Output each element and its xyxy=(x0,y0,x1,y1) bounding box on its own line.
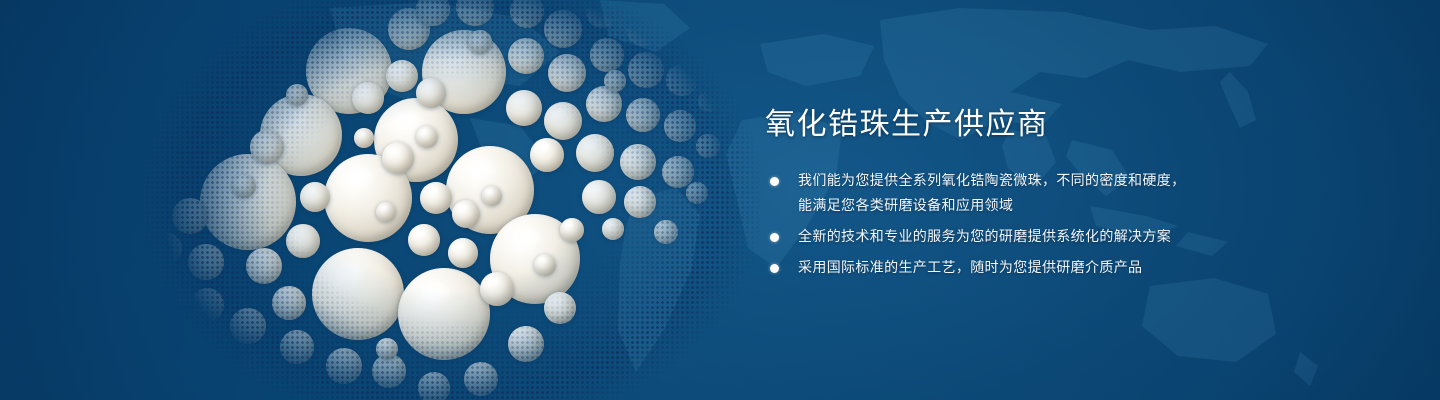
bead-small xyxy=(482,186,502,206)
bead-large xyxy=(306,28,392,114)
bead-medium xyxy=(188,244,224,280)
bead-medium xyxy=(626,12,660,46)
list-item: 采用国际标准的生产工艺，随时为您提供研磨介质产品 xyxy=(765,255,1285,280)
bead-medium xyxy=(286,224,320,258)
bead-large xyxy=(200,154,296,250)
hero-banner: 氧化锆珠生产供应商 我们能为您提供全系列氧化锆陶瓷微珠，不同的密度和硬度， 能满… xyxy=(0,0,1440,400)
bead-medium xyxy=(416,0,450,26)
bead-medium xyxy=(530,138,564,172)
bead-medium xyxy=(230,308,266,344)
bead-small xyxy=(286,84,308,106)
bead-medium xyxy=(664,110,696,142)
list-item-line: 我们能为您提供全系列氧化锆陶瓷微珠，不同的密度和硬度， xyxy=(798,168,1285,193)
list-item-line: 采用国际标准的生产工艺，随时为您提供研磨介质产品 xyxy=(798,255,1285,280)
bead-medium xyxy=(480,272,514,306)
zirconia-beads-photo xyxy=(130,0,750,400)
bead-medium xyxy=(148,232,182,266)
bead-medium xyxy=(416,78,446,108)
bead-medium xyxy=(280,330,314,364)
bead-small xyxy=(686,182,708,204)
bead-medium xyxy=(386,60,418,92)
bead-large xyxy=(374,98,458,182)
bullet-dot-icon xyxy=(770,233,779,242)
bead-medium xyxy=(326,348,362,384)
bead-small xyxy=(696,134,720,158)
bead-medium xyxy=(452,200,480,228)
bead-medium xyxy=(456,0,494,26)
bead-small xyxy=(696,40,720,64)
bead-small xyxy=(604,70,626,92)
bead-medium xyxy=(586,0,618,28)
bead-small xyxy=(602,218,624,240)
list-item: 全新的技术和专业的服务为您的研磨提供系统化的解决方案 xyxy=(765,224,1285,249)
bead-medium xyxy=(662,156,694,188)
feature-list: 我们能为您提供全系列氧化锆陶瓷微珠，不同的密度和硬度， 能满足您各类研磨设备和应… xyxy=(765,168,1285,280)
bead-small xyxy=(698,90,720,112)
bead-large xyxy=(312,248,404,340)
bead-medium xyxy=(624,186,656,218)
bead-medium xyxy=(272,286,306,320)
bead-medium xyxy=(508,326,544,362)
bead-medium xyxy=(420,182,452,214)
bead-medium xyxy=(544,102,582,140)
bead-medium xyxy=(506,90,542,126)
bead-medium xyxy=(246,248,282,284)
list-item-line: 全新的技术和专业的服务为您的研磨提供系统化的解决方案 xyxy=(798,224,1285,249)
bead-small xyxy=(560,218,584,242)
bead-small xyxy=(232,174,256,198)
bead-medium xyxy=(464,362,498,396)
bead-medium xyxy=(508,38,544,74)
bead-medium xyxy=(664,16,694,46)
bead-small xyxy=(354,128,374,148)
bead-medium xyxy=(408,224,440,256)
list-item: 我们能为您提供全系列氧化锆陶瓷微珠，不同的密度和硬度， 能满足您各类研磨设备和应… xyxy=(765,168,1285,218)
bead-medium xyxy=(666,64,698,96)
bead-medium xyxy=(250,130,284,164)
halftone-fade-overlay xyxy=(120,0,760,400)
bead-medium xyxy=(586,86,622,122)
bead-medium xyxy=(172,198,208,234)
bead-cluster xyxy=(130,0,750,400)
bead-medium xyxy=(510,0,544,28)
bullet-dot-icon xyxy=(770,264,779,273)
bead-large xyxy=(398,268,490,360)
bead-large xyxy=(446,146,534,234)
bead-small xyxy=(416,126,438,148)
bead-medium xyxy=(300,182,330,212)
bead-medium xyxy=(372,354,406,388)
bead-medium xyxy=(448,238,478,268)
bead-medium xyxy=(382,142,414,174)
page-title: 氧化锆珠生产供应商 xyxy=(765,105,1285,145)
bead-large xyxy=(422,30,506,114)
bead-medium xyxy=(582,180,616,214)
bead-medium xyxy=(190,288,224,322)
bead-large xyxy=(490,214,580,304)
bead-medium xyxy=(388,8,430,50)
bullet-dot-icon xyxy=(770,177,779,186)
bead-medium xyxy=(620,144,656,180)
bead-medium xyxy=(544,10,582,48)
bead-medium xyxy=(548,54,586,92)
bead-large xyxy=(324,154,412,242)
bead-medium xyxy=(628,52,664,88)
bead-small xyxy=(468,30,492,54)
bead-small xyxy=(150,286,174,310)
bead-medium xyxy=(590,38,624,72)
bead-medium xyxy=(352,82,384,114)
bead-small xyxy=(190,330,212,352)
bead-large xyxy=(260,94,342,176)
bead-small xyxy=(376,338,398,360)
bead-small xyxy=(238,356,262,380)
bead-medium xyxy=(576,134,614,172)
list-item-line: 能满足您各类研磨设备和应用领域 xyxy=(798,193,1285,218)
bead-small xyxy=(654,220,678,244)
bead-medium xyxy=(544,292,576,324)
bead-medium xyxy=(626,98,660,132)
banner-content: 氧化锆珠生产供应商 我们能为您提供全系列氧化锆陶瓷微珠，不同的密度和硬度， 能满… xyxy=(765,105,1285,280)
bead-small xyxy=(376,202,396,222)
bead-medium xyxy=(418,372,450,400)
bead-small xyxy=(534,254,556,276)
